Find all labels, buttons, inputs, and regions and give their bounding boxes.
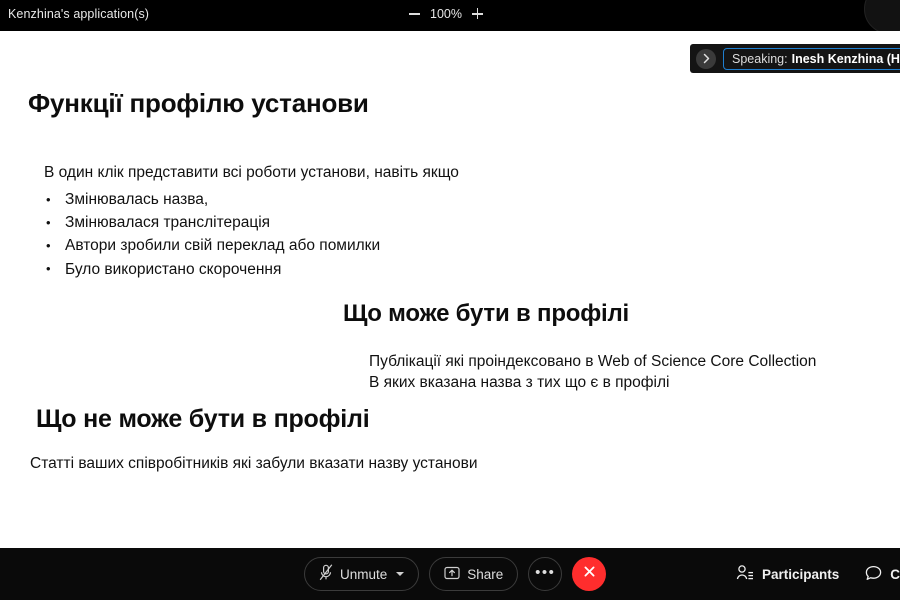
participants-icon bbox=[736, 564, 754, 584]
shared-slide: Функції профілю установи В один клік пре… bbox=[0, 31, 900, 548]
section-cannot-body: Статті ваших співробітників які забули в… bbox=[30, 455, 478, 473]
slide-bullet-list: Змінювалась назва, Змінювалася трансліте… bbox=[44, 188, 380, 281]
unmute-label: Unmute bbox=[340, 567, 387, 582]
list-item: Було використано скорочення bbox=[44, 258, 380, 281]
section-can-line: В яких вказана назва з тих що є в профіл… bbox=[369, 372, 816, 393]
participants-button[interactable]: Participants bbox=[736, 564, 839, 584]
list-item: Змінювалась назва, bbox=[44, 188, 380, 211]
microphone-muted-icon bbox=[319, 564, 333, 584]
more-options-button[interactable]: ••• bbox=[528, 557, 562, 591]
chat-label: Ch bbox=[890, 567, 900, 582]
self-video-thumbnail[interactable] bbox=[864, 0, 900, 34]
section-can-heading: Що може бути в профілі bbox=[343, 300, 629, 328]
ellipsis-icon: ••• bbox=[535, 565, 555, 580]
chevron-down-icon[interactable] bbox=[396, 572, 404, 576]
toolbar-right-controls: Participants Ch bbox=[736, 564, 900, 584]
section-can-body: Публікації які проіндексовано в Web of S… bbox=[369, 351, 816, 393]
participants-label: Participants bbox=[762, 567, 839, 582]
active-speaker-label: Speaking: Inesh Kenzhina (Host) bbox=[723, 48, 900, 70]
zoom-controls: 100% bbox=[408, 6, 484, 21]
section-cannot-heading: Що не може бути в профілі bbox=[36, 405, 369, 434]
speaking-name: Inesh Kenzhina (Host) bbox=[792, 52, 900, 66]
zoom-level: 100% bbox=[430, 7, 462, 21]
chat-button[interactable]: Ch bbox=[865, 565, 900, 584]
share-label: Share bbox=[467, 567, 503, 582]
share-button[interactable]: Share bbox=[429, 557, 518, 591]
close-icon bbox=[582, 564, 597, 584]
title-bar: Kenzhina's application(s) 100% bbox=[0, 0, 900, 31]
chevron-right-icon[interactable] bbox=[696, 49, 716, 69]
zoom-out-icon[interactable] bbox=[408, 6, 421, 21]
speaking-banner: Speaking: Inesh Kenzhina (Host) bbox=[690, 44, 900, 73]
list-item: Автори зробили свій переклад або помилки bbox=[44, 234, 380, 257]
slide-intro-text: В один клік представити всі роботи устан… bbox=[44, 164, 459, 182]
meeting-toolbar: Unmute Share ••• bbox=[0, 548, 900, 600]
zoom-meeting-window: Kenzhina's application(s) 100% Функції п… bbox=[0, 0, 900, 600]
toolbar-center-controls: Unmute Share ••• bbox=[304, 557, 606, 591]
section-can-line: Публікації які проіндексовано в Web of S… bbox=[369, 351, 816, 372]
zoom-in-icon[interactable] bbox=[471, 6, 484, 21]
speaking-prefix: Speaking: bbox=[732, 52, 788, 66]
leave-meeting-button[interactable] bbox=[572, 557, 606, 591]
slide-heading: Функції профілю установи bbox=[28, 88, 369, 119]
share-screen-icon bbox=[444, 566, 460, 583]
chat-bubble-icon bbox=[865, 565, 882, 584]
list-item: Змінювалася транслітерація bbox=[44, 211, 380, 234]
window-title: Kenzhina's application(s) bbox=[8, 7, 149, 21]
unmute-button[interactable]: Unmute bbox=[304, 557, 419, 591]
